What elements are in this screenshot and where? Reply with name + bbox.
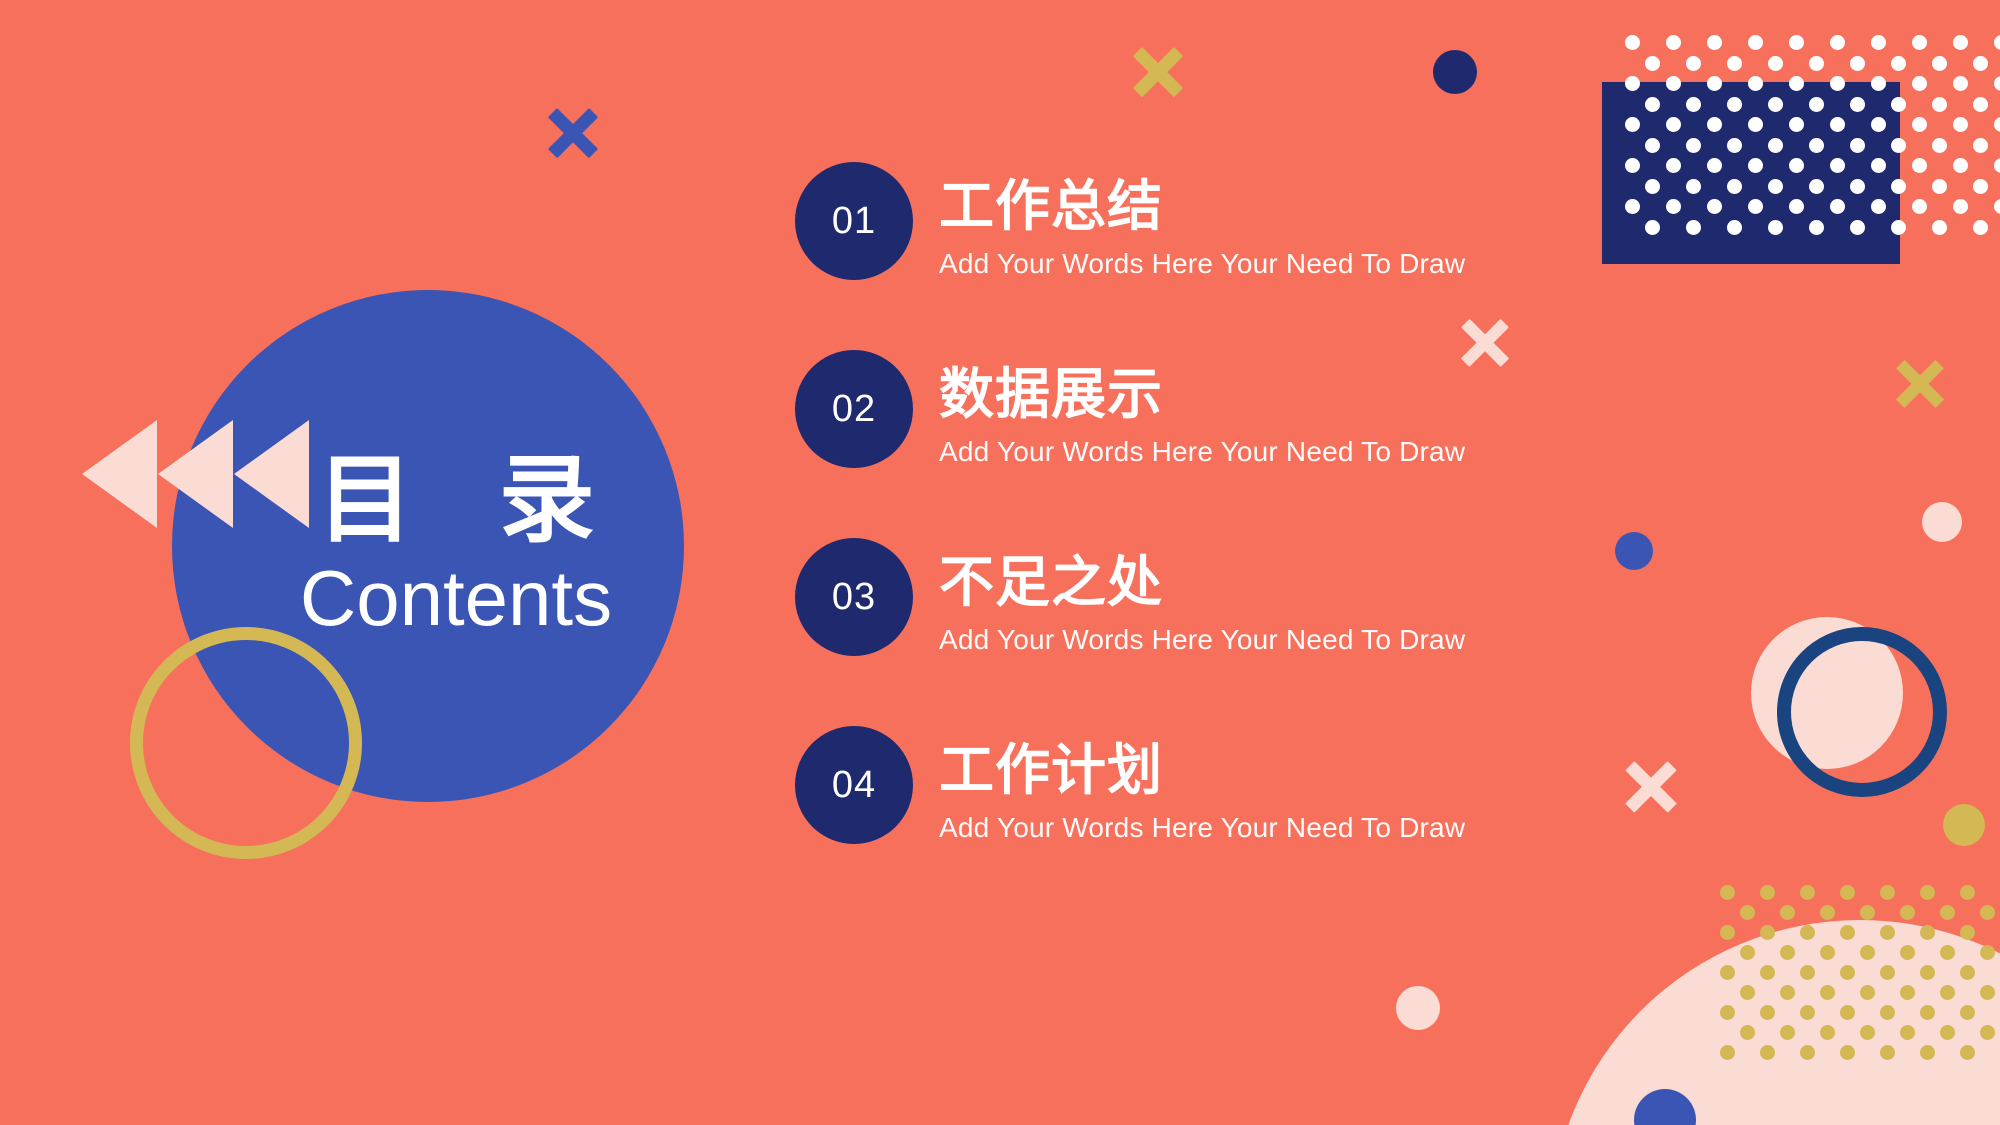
agenda-item-text: 数据展示 Add Your Words Here Your Need To Dr… [939,364,1465,468]
grid-dot [1960,965,1975,980]
dot-grid-gold-bottomright [1720,885,2000,1125]
grid-dot [1720,965,1735,980]
grid-dot [1809,179,1824,194]
grid-dot [1780,1025,1795,1040]
grid-dot [1994,117,2000,132]
grid-dot [1850,97,1865,112]
grid-dot [1960,925,1975,940]
grid-dot [1900,905,1915,920]
grid-dot [1960,1045,1975,1060]
grid-dot [1645,56,1660,71]
grid-dot [1800,1045,1815,1060]
grid-dot [1720,1045,1735,1060]
grid-dot [1960,1005,1975,1020]
grid-dot [1994,158,2000,173]
grid-dot [1932,56,1947,71]
agenda-subtitle: Add Your Words Here Your Need To Draw [939,248,1465,280]
ring-gold-left [130,627,362,859]
agenda-number: 04 [832,764,876,807]
grid-dot [1760,925,1775,940]
agenda-number-badge: 02 [795,350,913,468]
grid-dot [1800,925,1815,940]
grid-dot [1820,1025,1835,1040]
grid-dot [1789,158,1804,173]
grid-dot [1830,158,1845,173]
grid-dot [1940,985,1955,1000]
grid-dot [1891,56,1906,71]
grid-dot [1891,97,1906,112]
grid-dot [1666,199,1681,214]
grid-dot [1768,97,1783,112]
grid-dot [1740,1025,1755,1040]
grid-dot [1960,885,1975,900]
dot-gold-right [1943,804,1985,846]
grid-dot [1789,35,1804,50]
grid-dot [1932,138,1947,153]
agenda-item-text: 工作计划 Add Your Words Here Your Need To Dr… [939,740,1465,844]
grid-dot [1720,925,1735,940]
grid-dot [1686,56,1701,71]
grid-dot [1820,945,1835,960]
grid-dot [1768,220,1783,235]
grid-dot [1760,1005,1775,1020]
grid-dot [1953,199,1968,214]
grid-dot [1980,985,1995,1000]
grid-dot [1686,220,1701,235]
grid-dot [1760,885,1775,900]
grid-dot [1973,220,1988,235]
grid-dot [1830,76,1845,91]
grid-dot [1800,885,1815,900]
grid-dot [1973,56,1988,71]
grid-dot [1980,1025,1995,1040]
grid-dot [1740,985,1755,1000]
agenda-title: 不足之处 [939,552,1465,614]
agenda-item-01[interactable]: 01 工作总结 Add Your Words Here Your Need To… [795,162,1495,350]
agenda-number-badge: 03 [795,538,913,656]
grid-dot [1920,1045,1935,1060]
dot-blue-right [1615,532,1653,570]
grid-dot [1707,199,1722,214]
grid-dot [1871,76,1886,91]
grid-dot [1860,985,1875,1000]
x-mark-pink-lower [1621,757,1681,817]
agenda-number: 01 [832,200,876,243]
grid-dot [1994,76,2000,91]
x-mark-gold-top [1129,43,1187,101]
grid-dot [1768,179,1783,194]
agenda-item-04[interactable]: 04 工作计划 Add Your Words Here Your Need To… [795,726,1495,914]
grid-dot [1994,199,2000,214]
grid-dot [1760,965,1775,980]
grid-dot [1707,117,1722,132]
grid-dot [1953,158,1968,173]
grid-dot [1860,1025,1875,1040]
grid-dot [1625,117,1640,132]
triangle-pink-1 [82,420,157,528]
grid-dot [1707,76,1722,91]
grid-dot [1940,945,1955,960]
grid-dot [1973,179,1988,194]
grid-dot [1809,138,1824,153]
grid-dot [1768,138,1783,153]
grid-dot [1880,1005,1895,1020]
grid-dot [1920,1005,1935,1020]
grid-dot [1840,965,1855,980]
grid-dot [1953,35,1968,50]
grid-dot [1871,199,1886,214]
grid-dot [1727,97,1742,112]
grid-dot [1850,138,1865,153]
dot-pink-right [1922,502,1962,542]
grid-dot [1740,905,1755,920]
grid-dot [1768,56,1783,71]
grid-dot [1891,220,1906,235]
grid-dot [1820,985,1835,1000]
grid-dot [1748,35,1763,50]
agenda-item-03[interactable]: 03 不足之处 Add Your Words Here Your Need To… [795,538,1495,726]
x-mark-blue-topleft [544,104,602,162]
grid-dot [1809,97,1824,112]
grid-dot [1900,985,1915,1000]
grid-dot [1686,97,1701,112]
grid-dot [1830,199,1845,214]
agenda-subtitle: Add Your Words Here Your Need To Draw [939,624,1465,656]
grid-dot [1953,117,1968,132]
grid-dot [1932,97,1947,112]
grid-dot [1720,885,1735,900]
grid-dot [1880,1045,1895,1060]
agenda-list: 01 工作总结 Add Your Words Here Your Need To… [795,162,1495,914]
grid-dot [1880,965,1895,980]
grid-dot [1891,179,1906,194]
dot-pink-bottom [1396,986,1440,1030]
grid-dot [1780,945,1795,960]
slide-canvas: 目 录 Contents 01 工作总结 Add Your Words Here… [0,0,2000,1125]
grid-dot [1789,117,1804,132]
ring-navy-right [1777,627,1947,797]
agenda-subtitle: Add Your Words Here Your Need To Draw [939,436,1465,468]
agenda-item-text: 不足之处 Add Your Words Here Your Need To Dr… [939,552,1465,656]
grid-dot [1645,179,1660,194]
dot-navy-top [1433,50,1477,94]
grid-dot [1973,97,1988,112]
grid-dot [1880,885,1895,900]
grid-dot [1840,1045,1855,1060]
grid-dot [1900,1025,1915,1040]
grid-dot [1645,97,1660,112]
grid-dot [1912,158,1927,173]
grid-dot [1860,945,1875,960]
grid-dot [1860,905,1875,920]
grid-dot [1780,905,1795,920]
grid-dot [1707,35,1722,50]
agenda-item-02[interactable]: 02 数据展示 Add Your Words Here Your Need To… [795,350,1495,538]
grid-dot [1625,199,1640,214]
grid-dot [1809,220,1824,235]
grid-dot [1748,76,1763,91]
grid-dot [1912,35,1927,50]
grid-dot [1748,199,1763,214]
grid-dot [1920,965,1935,980]
grid-dot [1625,76,1640,91]
grid-dot [1980,945,1995,960]
grid-dot [1800,965,1815,980]
grid-dot [1871,117,1886,132]
agenda-number: 02 [832,388,876,431]
grid-dot [1920,885,1935,900]
grid-dot [1840,925,1855,940]
grid-dot [1912,117,1927,132]
grid-dot [1748,158,1763,173]
grid-dot [1912,199,1927,214]
grid-dot [1953,76,1968,91]
agenda-title: 工作计划 [939,740,1465,802]
grid-dot [1900,945,1915,960]
grid-dot [1625,35,1640,50]
grid-dot [1850,56,1865,71]
agenda-subtitle: Add Your Words Here Your Need To Draw [939,812,1465,844]
grid-dot [1720,1005,1735,1020]
grid-dot [1980,905,1995,920]
grid-dot [1912,76,1927,91]
grid-dot [1871,35,1886,50]
grid-dot [1809,56,1824,71]
grid-dot [1666,158,1681,173]
grid-dot [1932,220,1947,235]
grid-dot [1891,138,1906,153]
grid-dot [1740,945,1755,960]
contents-title-en: Contents [300,556,612,642]
grid-dot [1645,220,1660,235]
grid-dot [1973,138,1988,153]
grid-dot [1666,76,1681,91]
grid-dot [1940,905,1955,920]
grid-dot [1686,138,1701,153]
grid-dot [1871,158,1886,173]
grid-dot [1727,138,1742,153]
grid-dot [1940,1025,1955,1040]
grid-dot [1727,56,1742,71]
grid-dot [1748,117,1763,132]
grid-dot [1920,925,1935,940]
grid-dot [1994,35,2000,50]
grid-dot [1830,117,1845,132]
contents-title-cn: 目 录 [291,450,620,552]
grid-dot [1686,179,1701,194]
grid-dot [1830,35,1845,50]
agenda-number-badge: 01 [795,162,913,280]
grid-dot [1800,1005,1815,1020]
agenda-number-badge: 04 [795,726,913,844]
grid-dot [1789,76,1804,91]
grid-dot [1780,985,1795,1000]
grid-dot [1625,158,1640,173]
agenda-title: 数据展示 [939,364,1465,426]
grid-dot [1820,905,1835,920]
grid-dot [1850,220,1865,235]
grid-dot [1789,199,1804,214]
grid-dot [1880,925,1895,940]
grid-dot [1707,158,1722,173]
x-mark-gold-right [1892,356,1948,412]
grid-dot [1645,138,1660,153]
grid-dot [1666,35,1681,50]
grid-dot [1850,179,1865,194]
grid-dot [1666,117,1681,132]
grid-dot [1760,1045,1775,1060]
grid-dot [1727,220,1742,235]
grid-dot [1932,179,1947,194]
agenda-number: 03 [832,576,876,619]
grid-dot [1840,1005,1855,1020]
agenda-title: 工作总结 [939,176,1465,238]
grid-dot [1840,885,1855,900]
grid-dot [1727,179,1742,194]
agenda-item-text: 工作总结 Add Your Words Here Your Need To Dr… [939,176,1465,280]
